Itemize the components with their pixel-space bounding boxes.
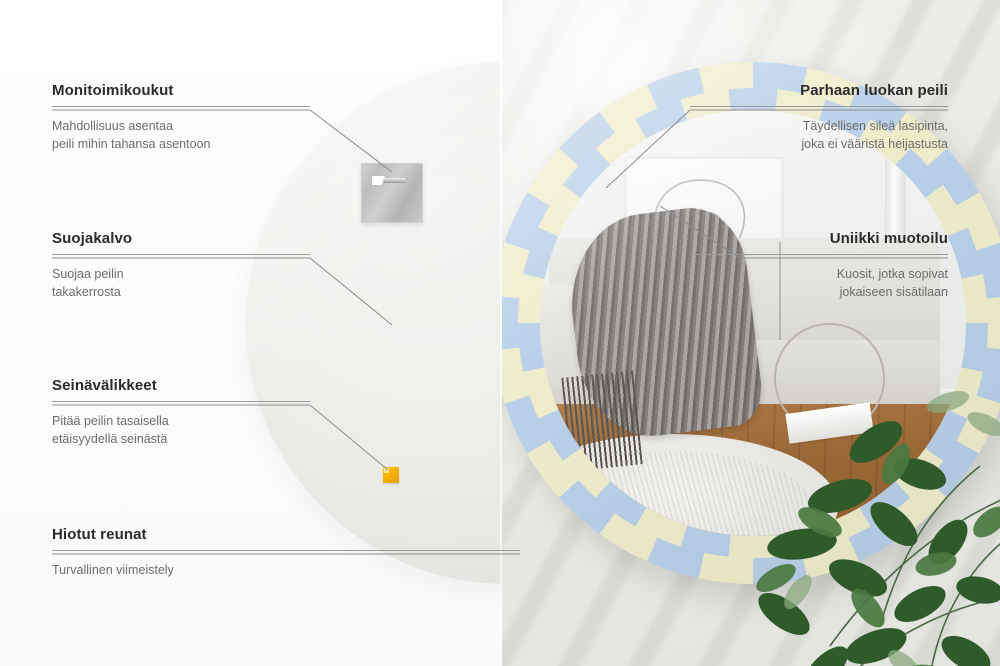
wall-spacer-pad bbox=[383, 467, 399, 483]
foliage-plant-icon bbox=[680, 346, 1000, 666]
callout-spacers-rule bbox=[52, 401, 310, 402]
callout-hooks-rule bbox=[52, 106, 310, 107]
callout-design-rule bbox=[690, 254, 948, 255]
keyhole-slot-icon bbox=[372, 176, 406, 185]
callout-film-title: Suojakalvo bbox=[52, 230, 310, 247]
callout-film-desc: Suojaa peilin takakerrosta bbox=[52, 265, 310, 301]
callout-film: Suojakalvo Suojaa peilin takakerrosta bbox=[52, 230, 310, 301]
callout-glass-title: Parhaan luokan peili bbox=[690, 82, 948, 99]
callout-edges-rule bbox=[52, 550, 520, 551]
callout-hooks: Monitoimikoukut Mahdollisuus asentaa pei… bbox=[52, 82, 310, 153]
callout-spacers-desc: Pitää peilin tasaisella etäisyydellä sei… bbox=[52, 412, 310, 448]
callout-edges-title: Hiotut reunat bbox=[52, 526, 520, 543]
callout-hooks-desc: Mahdollisuus asentaa peili mihin tahansa… bbox=[52, 117, 310, 153]
callout-design: Uniikki muotoilu Kuosit, jotka sopivat j… bbox=[690, 230, 948, 301]
callout-edges-desc: Turvallinen viimeistely bbox=[52, 561, 520, 579]
callout-design-desc: Kuosit, jotka sopivat jokaiseen sisätila… bbox=[690, 265, 948, 301]
callout-design-title: Uniikki muotoilu bbox=[690, 230, 948, 247]
callout-hooks-title: Monitoimikoukut bbox=[52, 82, 310, 99]
callout-edges: Hiotut reunat Turvallinen viimeistely bbox=[52, 526, 520, 579]
callout-film-rule bbox=[52, 254, 310, 255]
callout-glass-desc: Täydellisen sileä lasipinta, joka ei vää… bbox=[690, 117, 948, 153]
callout-glass-rule bbox=[690, 106, 948, 107]
callout-glass: Parhaan luokan peili Täydellisen sileä l… bbox=[690, 82, 948, 153]
callout-spacers: Seinävälikkeet Pitää peilin tasaisella e… bbox=[52, 377, 310, 448]
multifunction-hook-plate bbox=[361, 163, 423, 223]
callout-spacers-title: Seinävälikkeet bbox=[52, 377, 310, 394]
infographic-stage: Monitoimikoukut Mahdollisuus asentaa pei… bbox=[0, 0, 1000, 666]
reflected-throw-fringe bbox=[561, 371, 643, 472]
